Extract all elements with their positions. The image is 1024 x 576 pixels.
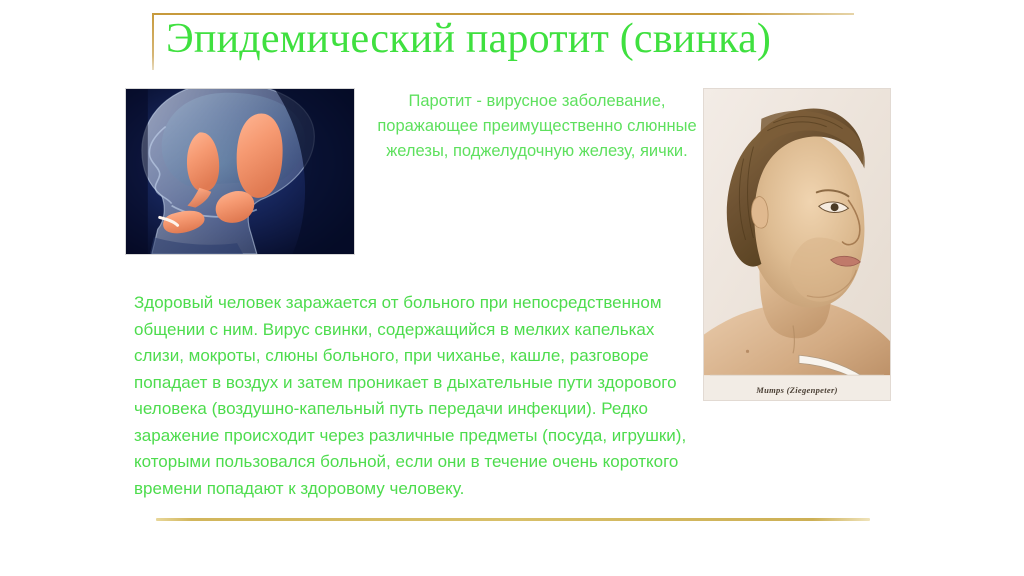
- portrait-caption: Mumps (Ziegenpeter): [704, 385, 890, 395]
- pupil: [831, 203, 839, 211]
- intro-paragraph: Паротит - вирусное заболевание, поражающ…: [372, 89, 702, 164]
- skull-shade: [162, 93, 305, 186]
- slide-root: Эпидемический паротит (свинка): [0, 0, 1024, 576]
- skin-mark: [746, 350, 749, 353]
- body-paragraph: Здоровый человек заражается от больного …: [134, 290, 699, 502]
- bottom-divider-rule: [156, 518, 870, 521]
- ear: [751, 196, 768, 228]
- title-left-rule: [152, 13, 154, 70]
- slide-title-block: Эпидемический паротит (свинка): [152, 13, 854, 71]
- anatomy-svg: [126, 89, 354, 254]
- anatomy-illustration: [125, 88, 355, 255]
- vignette-left: [126, 89, 148, 254]
- portrait-svg: [704, 89, 890, 400]
- gland-parotid-right: [237, 113, 283, 197]
- portrait-illustration: Mumps (Ziegenpeter): [703, 88, 891, 401]
- page-title: Эпидемический паротит (свинка): [166, 12, 771, 66]
